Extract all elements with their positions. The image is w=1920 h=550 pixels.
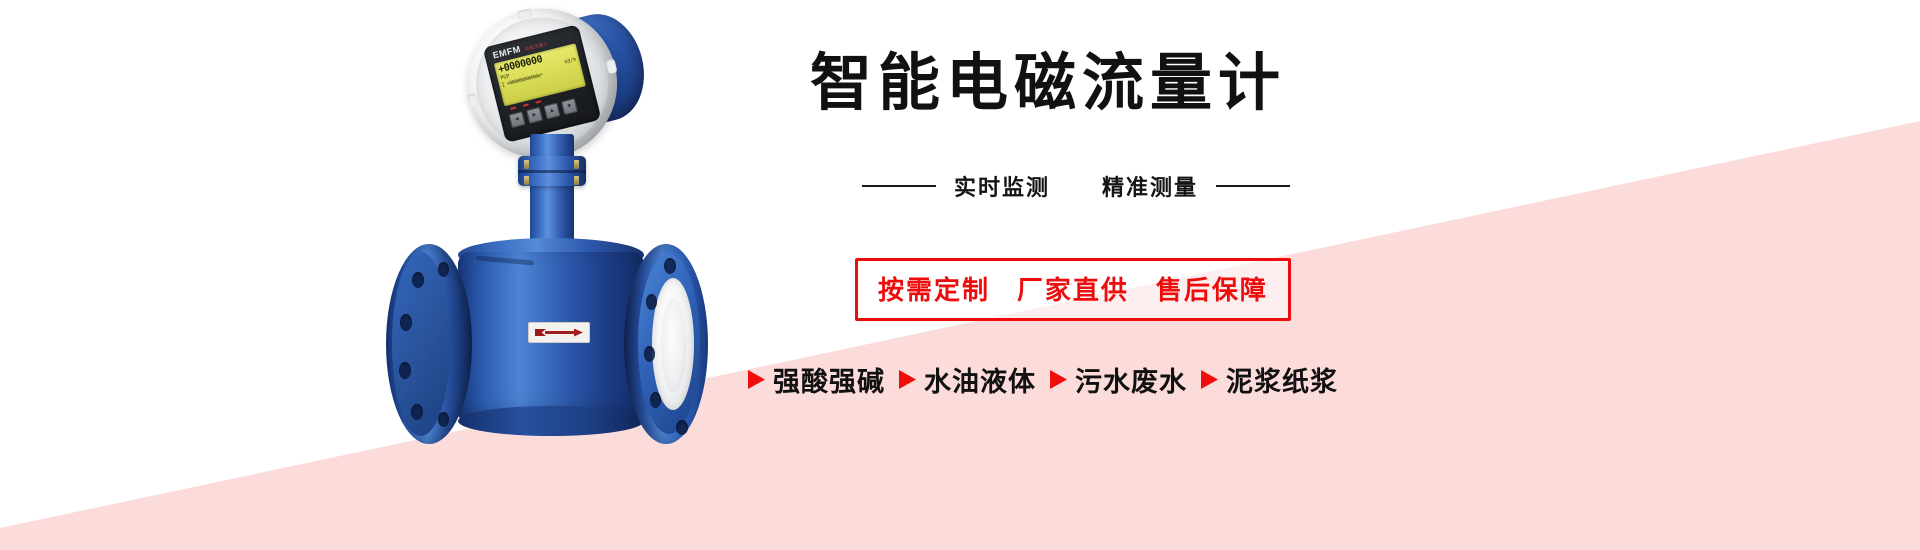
triangle-right-icon [1050,370,1067,389]
flow-arrow-head [574,329,583,337]
status-led [523,103,529,106]
promo-item-2: 厂家直供 [1017,276,1129,306]
promo-box: 按需定制 厂家直供 售后保障 [855,258,1291,321]
flange-bolt-hole [399,362,411,379]
flowmeter-illustration: EMFM 电磁流量计 +0000000 PGP m3/h ∑ +00000000… [380,6,780,466]
subtitle-rule-left [862,185,936,187]
keypad-button-down[interactable]: ▼ [561,98,578,115]
status-led [535,100,541,103]
feature-item-2: 水油液体 [899,360,1036,399]
collar-bolt [574,160,579,169]
subtitle-row: 实时监测 精准测量 [862,170,1290,202]
subtitle-right: 精准测量 [1102,170,1198,202]
feature-label: 强酸强碱 [773,360,885,399]
collar-bolt [524,160,529,169]
flow-arrow-icon [535,328,583,337]
collar-seam [518,170,586,173]
triangle-right-icon [1201,370,1218,389]
triangle-right-icon [899,370,916,389]
flange-bolt-hole [438,262,449,277]
page-title: 智能电磁流量计 [810,52,1286,114]
flange-bolt-hole [438,412,449,427]
flange-bolt-hole [400,314,412,331]
subtitle-left: 实时监测 [954,170,1050,202]
flange-bolt-hole [411,404,423,420]
neck-collar [518,156,586,186]
product-banner: EMFM 电磁流量计 +0000000 PGP m3/h ∑ +00000000… [0,0,1920,550]
feature-label: 泥浆纸浆 [1226,360,1338,399]
triangle-right-icon [748,370,765,389]
liner-bore [661,298,686,392]
feature-label: 污水废水 [1075,360,1187,399]
subtitle-rule-right [1216,185,1290,187]
keypad-button-up[interactable]: ▲ [544,102,561,119]
flange-bolt-hole [412,272,424,288]
feature-item-1: 强酸强碱 [748,360,885,399]
body-bottom-cap [458,406,644,436]
feature-item-4: 泥浆纸浆 [1201,360,1338,399]
promo-item-3: 售后保障 [1156,276,1268,306]
collar-bolt [524,176,529,185]
feature-list: 强酸强碱 水油液体 污水废水 泥浆纸浆 [748,360,1338,399]
promo-item-1: 按需定制 [878,276,990,306]
collar-bolt [574,176,579,185]
flange-bolt-hole [676,420,688,435]
flange-bolt-hole [664,258,676,274]
flow-arrow-bar [545,331,575,333]
flange-bolt-hole [644,346,655,362]
feature-label: 水油液体 [924,360,1036,399]
flange-bolt-hole [650,392,661,408]
feature-item-3: 污水废水 [1050,360,1187,399]
flow-direction-plate [528,322,590,343]
keypad-button-right[interactable]: ► [526,107,543,124]
keypad-button-left[interactable]: ◄ [509,111,526,128]
flange-bolt-hole [646,294,657,310]
status-led [510,107,516,110]
